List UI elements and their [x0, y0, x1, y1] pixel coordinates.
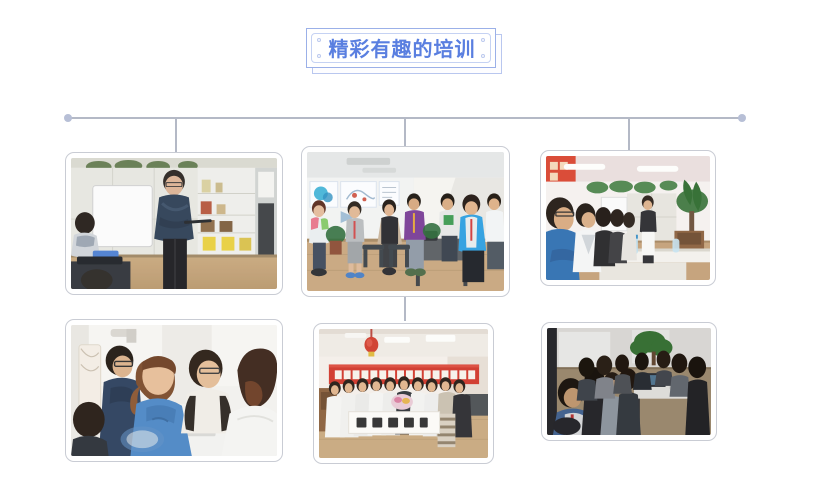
photo-5-image [319, 329, 488, 458]
timeline-branch-line-3 [628, 118, 630, 152]
photo-1-image [71, 158, 277, 289]
photo-frame-4[interactable] [65, 319, 283, 462]
timeline-endpoint-dot-right [738, 114, 746, 122]
page-title: 精彩有趣的培训 [307, 29, 497, 69]
photo-frame-1[interactable] [65, 152, 283, 295]
photo-3-image [546, 156, 710, 280]
timeline-branch-line-1 [175, 118, 177, 152]
banner-outer-border: 精彩有趣的培训 [306, 28, 496, 68]
timeline-endpoint-dot-left [64, 114, 72, 122]
photo-2-image [307, 152, 504, 291]
page-title-banner: 精彩有趣的培训 [306, 28, 502, 74]
photo-frame-3[interactable] [540, 150, 716, 286]
photo-4-image [71, 325, 277, 456]
timeline-branch-line-center-lower [404, 297, 406, 321]
photo-frame-2[interactable] [301, 146, 510, 297]
photo-6-image [547, 328, 711, 435]
photo-frame-5[interactable] [313, 323, 494, 464]
photo-frame-6[interactable] [541, 322, 717, 441]
